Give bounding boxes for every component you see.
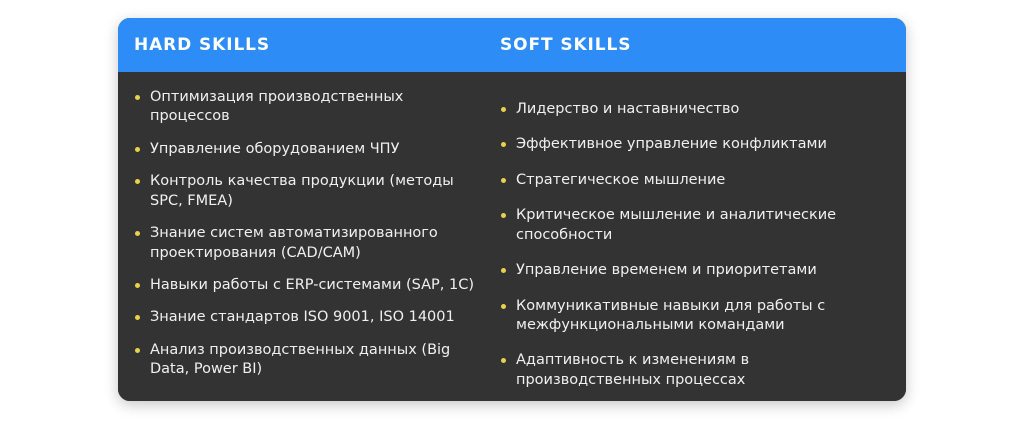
bullet-dot-icon <box>135 95 140 100</box>
skill-list-item: Коммуникативные навыки для работы с межф… <box>500 297 884 336</box>
skill-label: Управление оборудованием ЧПУ <box>150 140 474 159</box>
bullet-dot-icon <box>135 348 140 353</box>
skill-list-item: Анализ производственных данных (Big Data… <box>134 341 474 380</box>
skill-label: Анализ производственных данных (Big Data… <box>150 341 474 380</box>
page-root: HARD SKILLS SOFT SKILLS Оптимизация прои… <box>0 0 1024 422</box>
skill-list-item: Лидерство и наставничество <box>500 100 884 119</box>
hard-skills-column: Оптимизация производственных процессовУп… <box>118 72 486 401</box>
header-cell-soft-skills: SOFT SKILLS <box>486 18 906 72</box>
skill-list-item: Управление временем и приоритетами <box>500 261 884 280</box>
header-cell-hard-skills: HARD SKILLS <box>118 18 486 72</box>
skill-label: Стратегическое мышление <box>516 171 884 190</box>
skill-label: Управление временем и приоритетами <box>516 261 884 280</box>
skill-label: Коммуникативные навыки для работы с межф… <box>516 297 884 336</box>
skill-label: Адаптивность к изменениям в производстве… <box>516 351 884 390</box>
skill-list-item: Оптимизация производственных процессов <box>134 88 474 127</box>
skill-list-item: Стратегическое мышление <box>500 171 884 190</box>
skill-list-item: Критическое мышление и аналитические спо… <box>500 206 884 245</box>
bullet-dot-icon <box>501 213 506 218</box>
soft-skills-column: Лидерство и наставничествоЭффективное уп… <box>486 72 906 401</box>
skill-list-item: Контроль качества продукции (методы SPC,… <box>134 172 474 211</box>
skill-label: Эффективное управление конфликтами <box>516 135 884 154</box>
skill-label: Лидерство и наставничество <box>516 100 884 119</box>
bullet-dot-icon <box>501 107 506 112</box>
bullet-dot-icon <box>135 179 140 184</box>
hard-skills-list: Оптимизация производственных процессовУп… <box>134 88 474 380</box>
bullet-dot-icon <box>501 142 506 147</box>
bullet-dot-icon <box>135 315 140 320</box>
bullet-dot-icon <box>501 358 506 363</box>
skill-list-item: Знание систем автоматизированного проект… <box>134 224 474 263</box>
bullet-dot-icon <box>501 304 506 309</box>
skill-list-item: Управление оборудованием ЧПУ <box>134 140 474 159</box>
skills-comparison-card: HARD SKILLS SOFT SKILLS Оптимизация прои… <box>118 18 906 401</box>
soft-skills-title: SOFT SKILLS <box>500 37 631 54</box>
card-body: Оптимизация производственных процессовУп… <box>118 72 906 401</box>
card-header: HARD SKILLS SOFT SKILLS <box>118 18 906 72</box>
skill-list-item: Эффективное управление конфликтами <box>500 135 884 154</box>
skill-list-item: Адаптивность к изменениям в производстве… <box>500 351 884 390</box>
bullet-dot-icon <box>135 283 140 288</box>
skill-list-item: Знание стандартов ISO 9001, ISO 14001 <box>134 308 474 327</box>
bullet-dot-icon <box>135 147 140 152</box>
bullet-dot-icon <box>501 178 506 183</box>
bullet-dot-icon <box>135 231 140 236</box>
skill-label: Контроль качества продукции (методы SPC,… <box>150 172 474 211</box>
skill-label: Знание систем автоматизированного проект… <box>150 224 474 263</box>
skill-label: Оптимизация производственных процессов <box>150 88 474 127</box>
soft-skills-list: Лидерство и наставничествоЭффективное уп… <box>500 100 884 390</box>
hard-skills-title: HARD SKILLS <box>134 37 270 54</box>
skill-list-item: Навыки работы с ERP-системами (SAP, 1C) <box>134 276 474 295</box>
skill-label: Критическое мышление и аналитические спо… <box>516 206 884 245</box>
skill-label: Навыки работы с ERP-системами (SAP, 1C) <box>150 276 474 295</box>
skill-label: Знание стандартов ISO 9001, ISO 14001 <box>150 308 474 327</box>
bullet-dot-icon <box>501 268 506 273</box>
